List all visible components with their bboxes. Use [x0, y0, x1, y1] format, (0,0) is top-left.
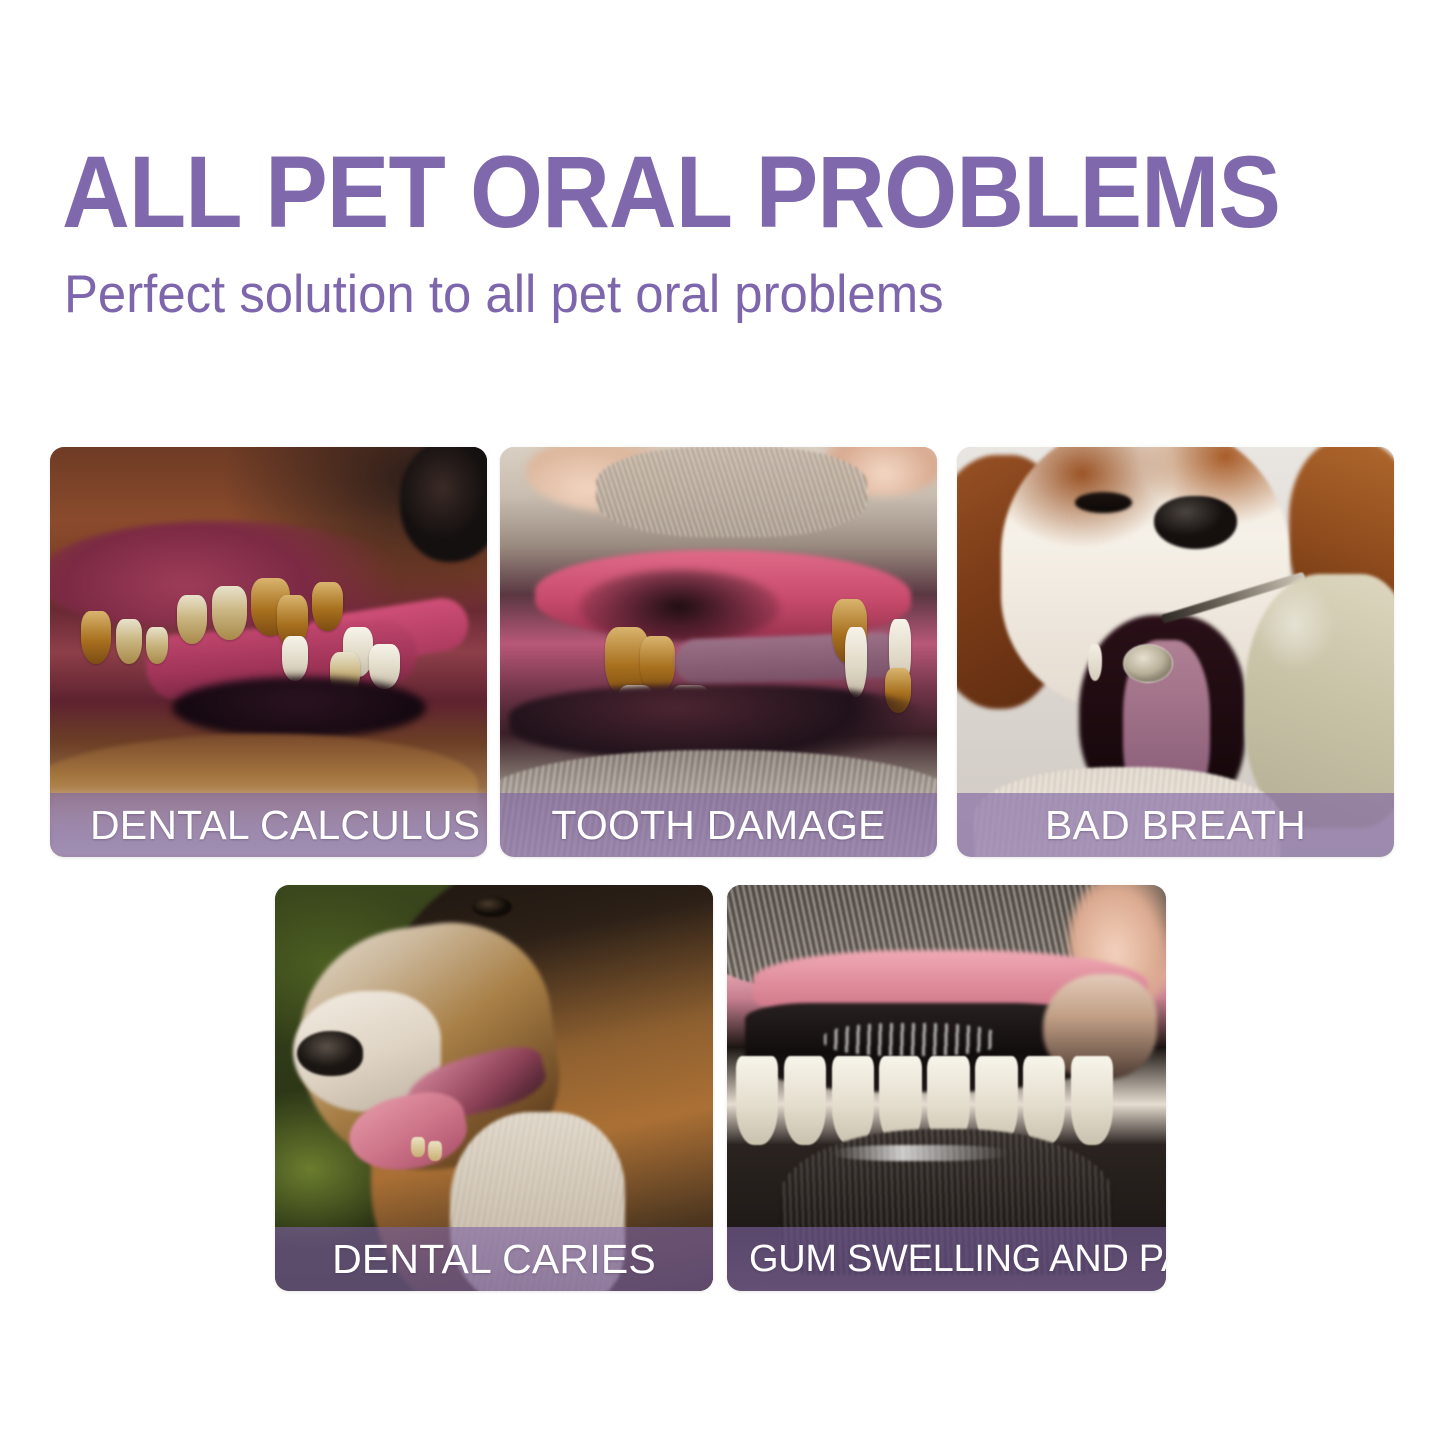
card-label-bar: GUM SWELLING AND PAIN	[727, 1227, 1166, 1291]
page-title: ALL PET ORAL PROBLEMS	[62, 140, 1276, 244]
card-label: DENTAL CARIES	[332, 1237, 656, 1281]
page-subtitle: Perfect solution to all pet oral problem…	[64, 266, 1216, 324]
promo-banner: ALL PET ORAL PROBLEMS Perfect solution t…	[0, 0, 1445, 1445]
problem-card-dental-calculus[interactable]: DENTAL CALCULUS	[50, 447, 487, 857]
problem-card-tooth-damage[interactable]: TOOTH DAMAGE	[500, 447, 937, 857]
card-label: DENTAL CALCULUS	[90, 803, 480, 847]
problem-card-dental-caries[interactable]: DENTAL CARIES	[275, 885, 713, 1291]
card-label-bar: BAD BREATH	[957, 793, 1394, 857]
card-label-bar: DENTAL CALCULUS	[50, 793, 487, 857]
problem-card-bad-breath[interactable]: BAD BREATH	[957, 447, 1394, 857]
problem-card-gum-swelling-and-pain[interactable]: GUM SWELLING AND PAIN	[727, 885, 1166, 1291]
card-label: TOOTH DAMAGE	[551, 803, 885, 847]
card-label: GUM SWELLING AND PAIN	[749, 1237, 1166, 1281]
card-label-bar: DENTAL CARIES	[275, 1227, 713, 1291]
card-label-bar: TOOTH DAMAGE	[500, 793, 937, 857]
card-label: BAD BREATH	[1045, 803, 1306, 847]
